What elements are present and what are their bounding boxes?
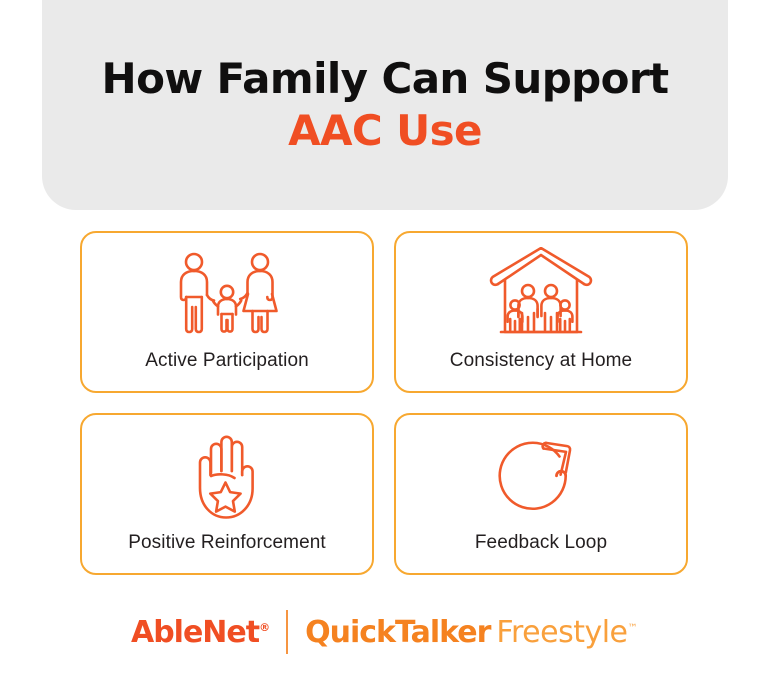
page-title-line-1: How Family Can Support [102, 57, 669, 101]
card-label: Positive Reinforcement [128, 533, 326, 554]
ablenet-logo[interactable]: AbleNet® [131, 615, 269, 650]
house-with-family-icon [481, 247, 601, 343]
ablenet-wordmark: AbleNet [131, 615, 259, 650]
hand-with-star-icon [167, 429, 287, 525]
quicktalker-wordmark[interactable]: QuickTalker [305, 615, 490, 650]
support-cards-grid: Active Participation [80, 231, 688, 575]
registered-mark-icon: ® [259, 621, 269, 634]
footer-logo-lockup: AbleNet® QuickTalker Freestyle™ [0, 604, 768, 660]
family-holding-hands-icon [167, 247, 287, 343]
header-panel: How Family Can Support AAC Use [42, 0, 728, 210]
freestyle-text: Freestyle [496, 615, 627, 650]
card-feedback-loop[interactable]: Feedback Loop [394, 413, 688, 575]
card-active-participation[interactable]: Active Participation [80, 231, 374, 393]
page-title-line-2: AAC Use [288, 109, 482, 153]
freestyle-wordmark[interactable]: Freestyle™ [496, 615, 637, 650]
card-positive-reinforcement[interactable]: Positive Reinforcement [80, 413, 374, 575]
trademark-mark-icon: ™ [628, 623, 638, 634]
infographic-root: How Family Can Support AAC Use [0, 0, 768, 691]
card-label: Feedback Loop [475, 533, 607, 554]
card-label: Consistency at Home [450, 351, 632, 372]
logo-divider [286, 610, 288, 654]
circular-arrow-refresh-icon [481, 429, 601, 525]
card-label: Active Participation [145, 351, 309, 372]
card-consistency-at-home[interactable]: Consistency at Home [394, 231, 688, 393]
